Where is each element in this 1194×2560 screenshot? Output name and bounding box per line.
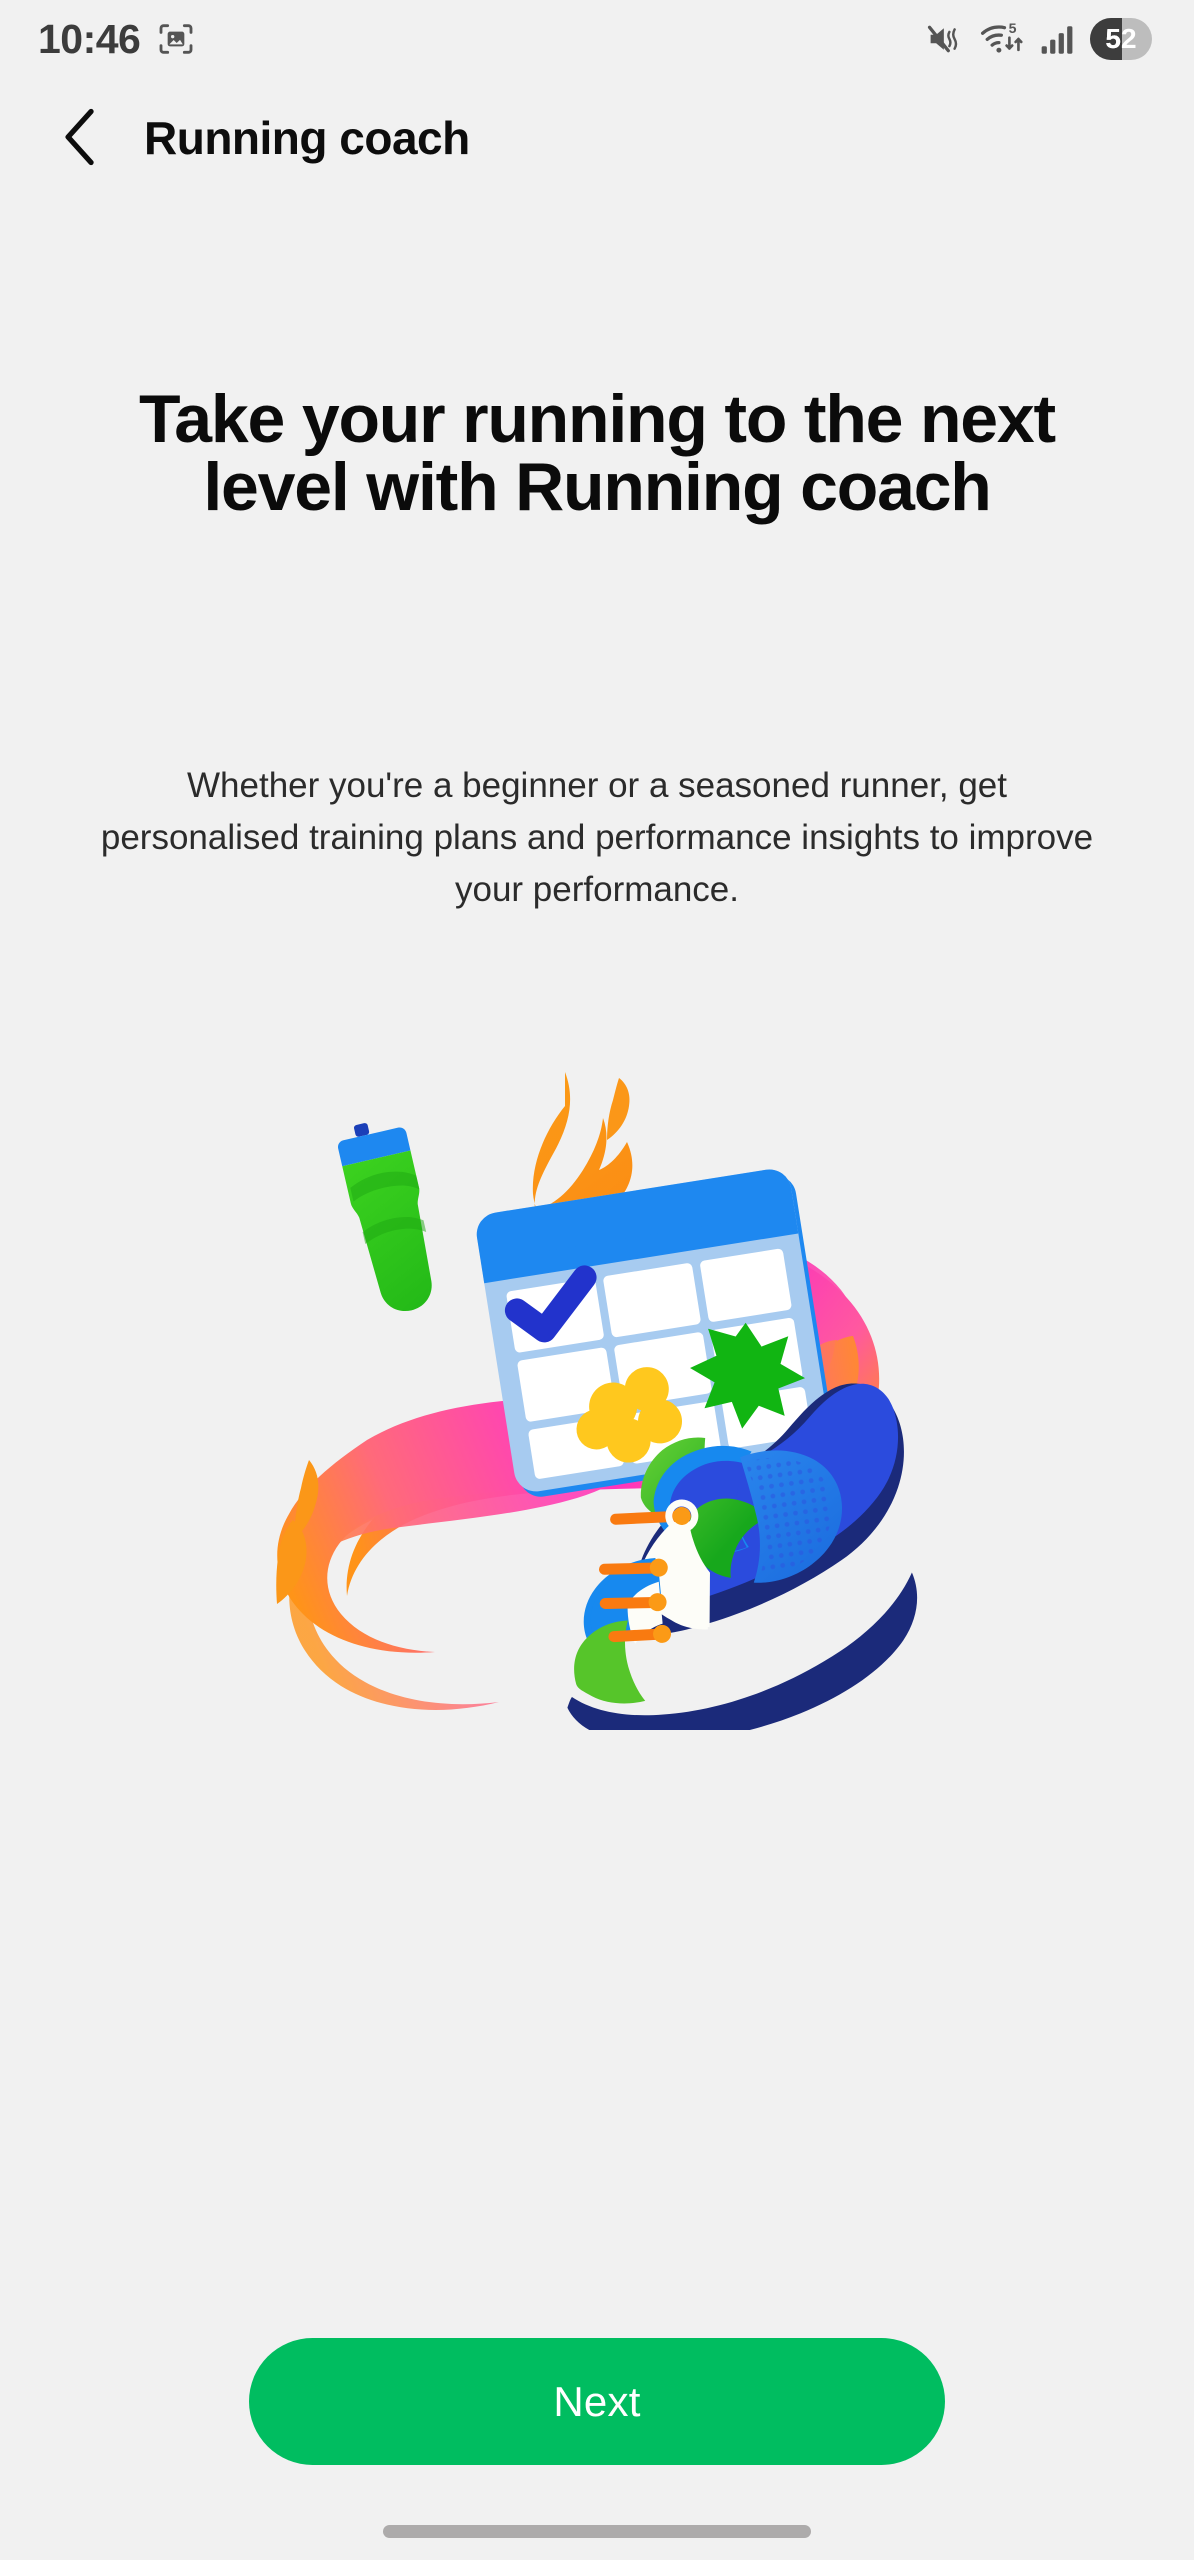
headline: Take your running to the next level with… [0, 385, 1194, 521]
status-time: 10:46 [38, 19, 140, 60]
back-button[interactable] [52, 107, 108, 169]
home-indicator-bar[interactable] [383, 2525, 811, 2538]
battery-percent-text-over-fill: 52 [1090, 18, 1122, 60]
cellular-signal-icon [1040, 21, 1076, 57]
status-bar-right: 5 52 52 [926, 18, 1152, 60]
next-button[interactable]: Next [249, 2338, 945, 2465]
battery-indicator: 52 52 [1090, 18, 1152, 60]
page-title: Running coach [144, 111, 470, 165]
chevron-left-icon [63, 108, 97, 169]
status-bar: 10:46 [0, 0, 1194, 78]
running-coach-illustration [247, 1010, 947, 1730]
app-bar: Running coach [0, 78, 1194, 198]
screenshot-capture-icon [156, 19, 196, 59]
wifi-icon: 5 [980, 19, 1026, 59]
svg-text:5: 5 [1009, 20, 1017, 36]
app-screen: 10:46 [0, 0, 1194, 2560]
volume-mute-icon [926, 20, 966, 58]
status-bar-left: 10:46 [38, 19, 196, 60]
description-text: Whether you're a beginner or a seasoned … [0, 760, 1194, 915]
